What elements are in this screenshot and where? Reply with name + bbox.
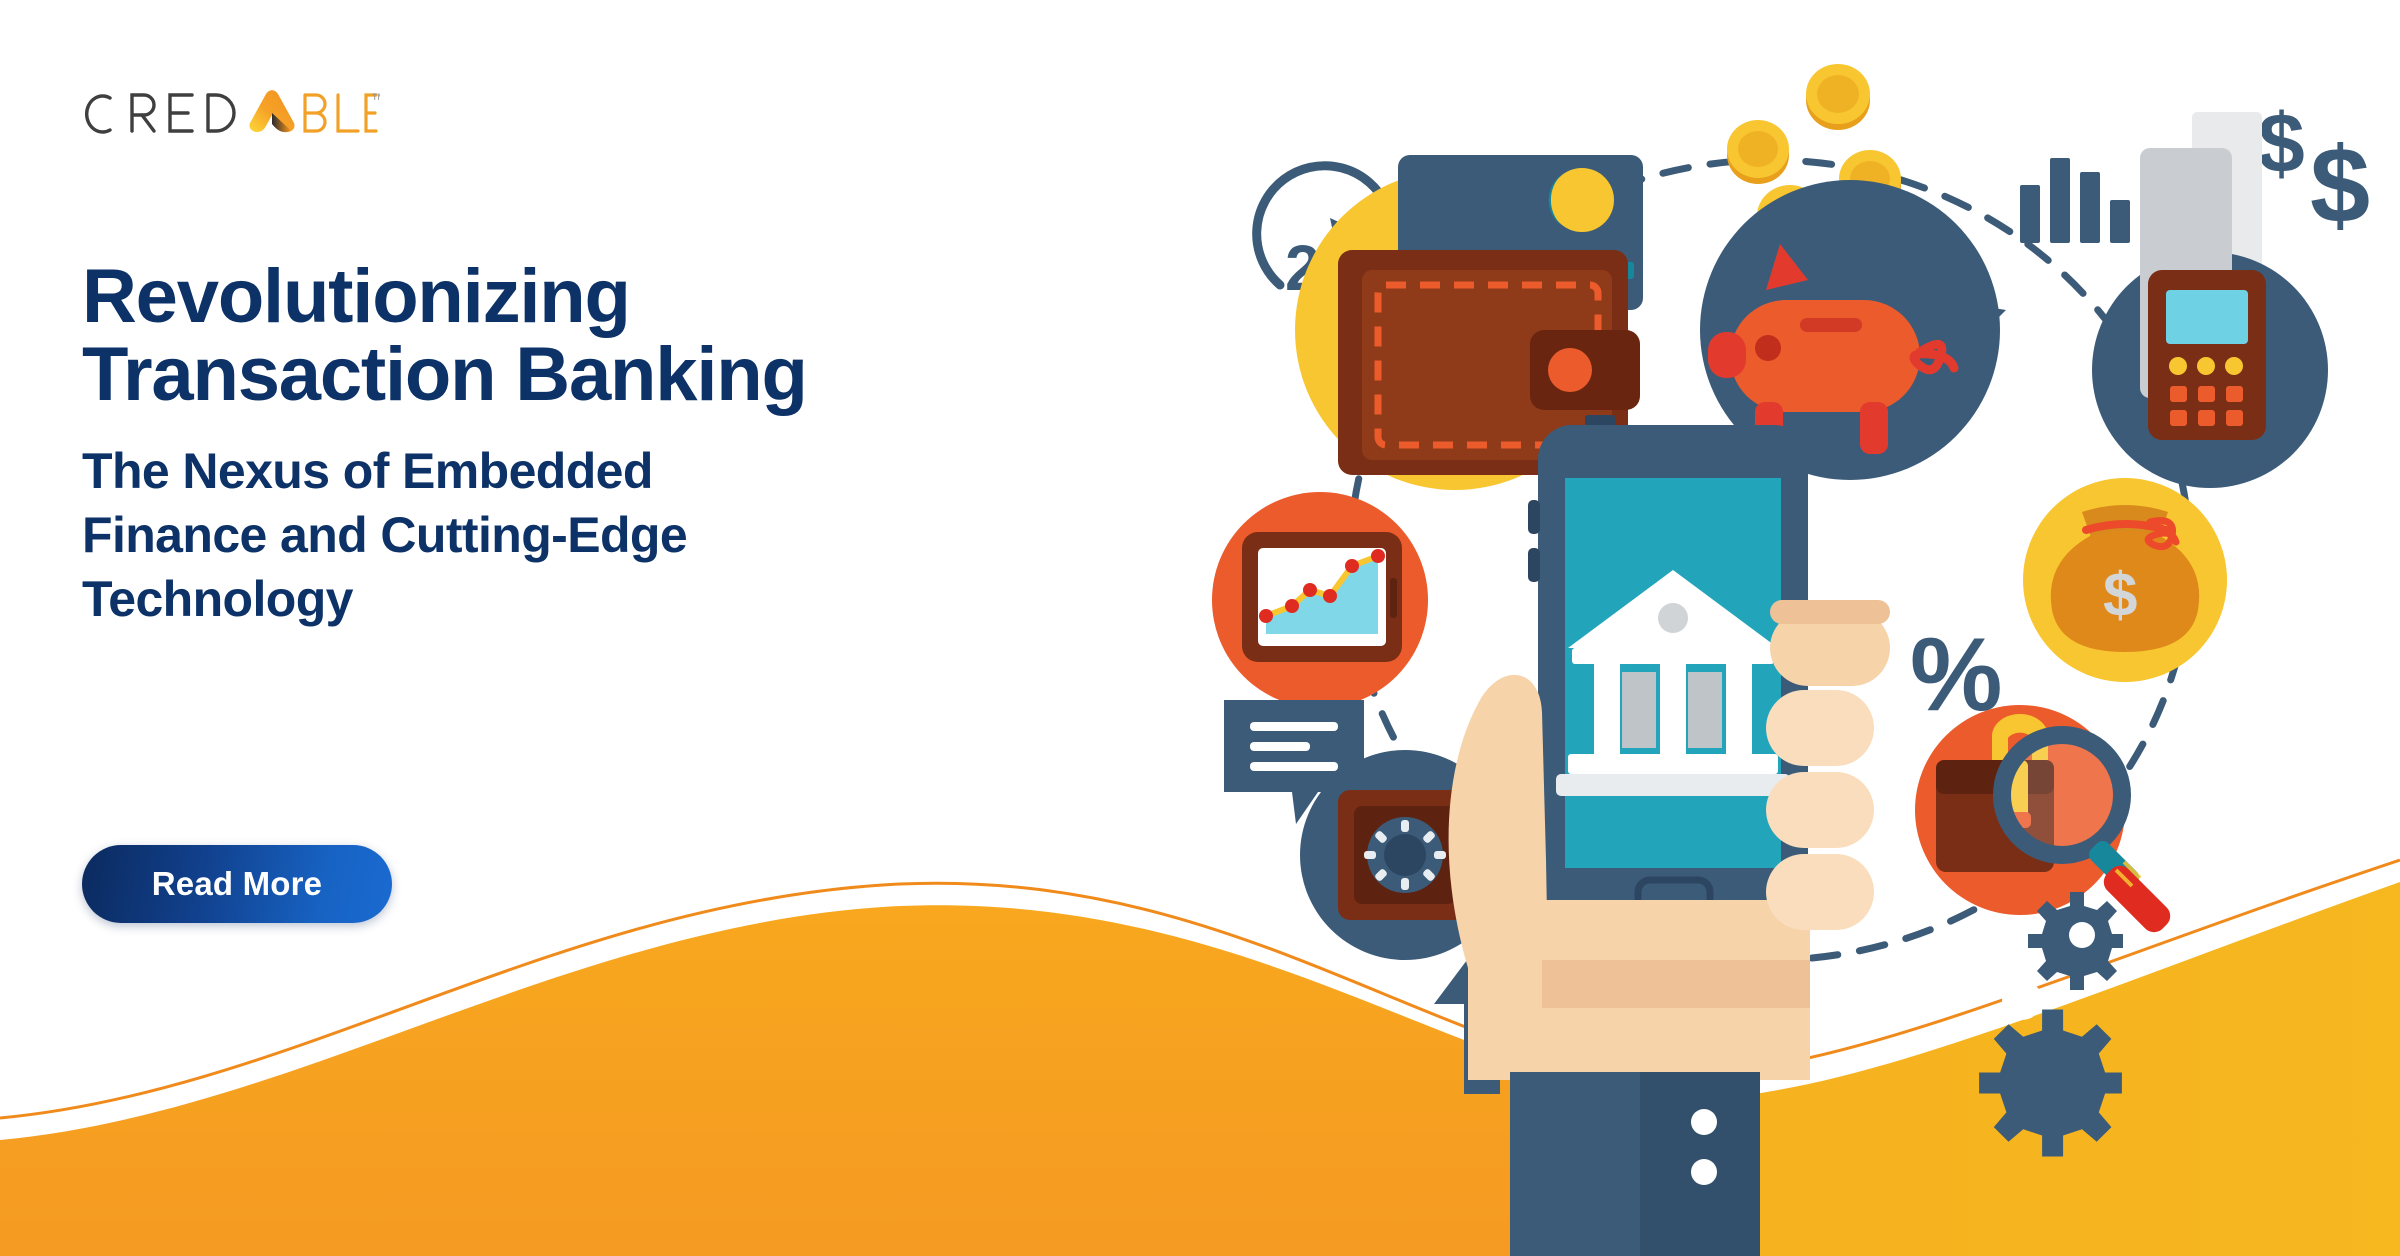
illustration: 24 [1210, 0, 2400, 1256]
briefcase-search-icon [1915, 705, 2175, 937]
subhead-line-2: Finance and Cutting-Edge [82, 503, 1102, 567]
gear-icon [1979, 980, 2122, 1157]
subhead-line-3: Technology [82, 567, 1102, 631]
hero-copy: Revolutionizing Transaction Banking The … [82, 258, 1232, 631]
read-more-button[interactable]: Read More [82, 845, 392, 923]
bar-chart-icon [2020, 158, 2130, 243]
money-bag-icon: $ [2023, 478, 2227, 682]
headline-line-2: Transaction Banking [82, 336, 1232, 414]
headline-line-1: Revolutionizing [82, 258, 1232, 336]
trademark-symbol: TM [372, 92, 380, 102]
chart-tablet-icon [1212, 492, 1428, 708]
mobile-banking-ecosystem-svg: 24 [1210, 0, 2400, 1256]
promo-banner: TM Revolutionizing Transaction Banking T… [0, 0, 2400, 1256]
logo-a-mark [249, 90, 294, 132]
credable-logo-svg: TM [80, 82, 380, 140]
page-title: Revolutionizing Transaction Banking [82, 258, 1232, 413]
svg-text:$: $ [2103, 561, 2137, 630]
subhead-line-1: The Nexus of Embedded [82, 439, 1102, 503]
dollar-sign-icon-2: $ [2310, 124, 2370, 245]
dollar-sign-icon: $ [2258, 96, 2305, 190]
gear-icon-2 [2028, 892, 2123, 990]
page-subtitle: The Nexus of Embedded Finance and Cuttin… [82, 439, 1102, 631]
brand-logo[interactable]: TM [80, 82, 380, 142]
smartphone-in-hand [1449, 415, 1890, 1256]
